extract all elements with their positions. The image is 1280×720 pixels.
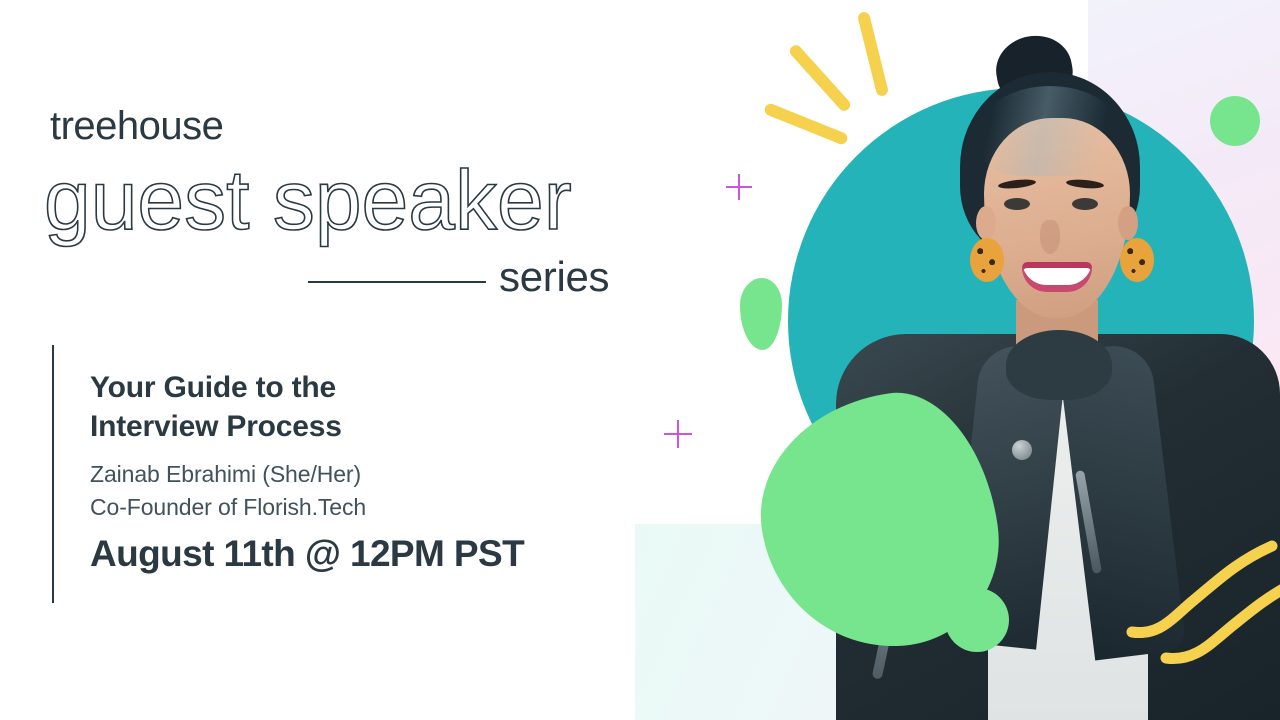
talk-title-line-2: Interview Process xyxy=(90,407,342,446)
hero-outline-title: guest speaker xyxy=(44,158,572,242)
spark-stroke-icon xyxy=(857,11,889,97)
details-vertical-rule xyxy=(52,345,54,603)
plus-mark-icon xyxy=(726,174,752,200)
talk-title: Your Guide to the Interview Process xyxy=(90,368,342,446)
event-datetime: August 11th @ 12PM PST xyxy=(90,534,524,575)
squiggle-strokes-icon xyxy=(1120,540,1280,670)
green-small-blob xyxy=(740,278,782,350)
series-label: series xyxy=(499,256,609,298)
green-dot-bottom-icon xyxy=(945,588,1009,652)
brand-wordmark: treehouse xyxy=(50,106,223,146)
speaker-role: Co-Founder of Florish.Tech xyxy=(90,492,366,524)
spark-stroke-icon xyxy=(787,43,852,113)
spark-stroke-icon xyxy=(763,102,849,146)
promo-slide: treehouse guest speaker series Your Guid… xyxy=(0,0,1280,720)
talk-title-line-1: Your Guide to the xyxy=(90,368,342,407)
green-dot-top-icon xyxy=(1210,96,1260,146)
text-column: treehouse guest speaker series Your Guid… xyxy=(0,0,660,720)
speaker-name: Zainab Ebrahimi (She/Her) xyxy=(90,459,361,491)
series-divider-rule xyxy=(308,281,486,283)
plus-mark-icon xyxy=(664,420,692,448)
